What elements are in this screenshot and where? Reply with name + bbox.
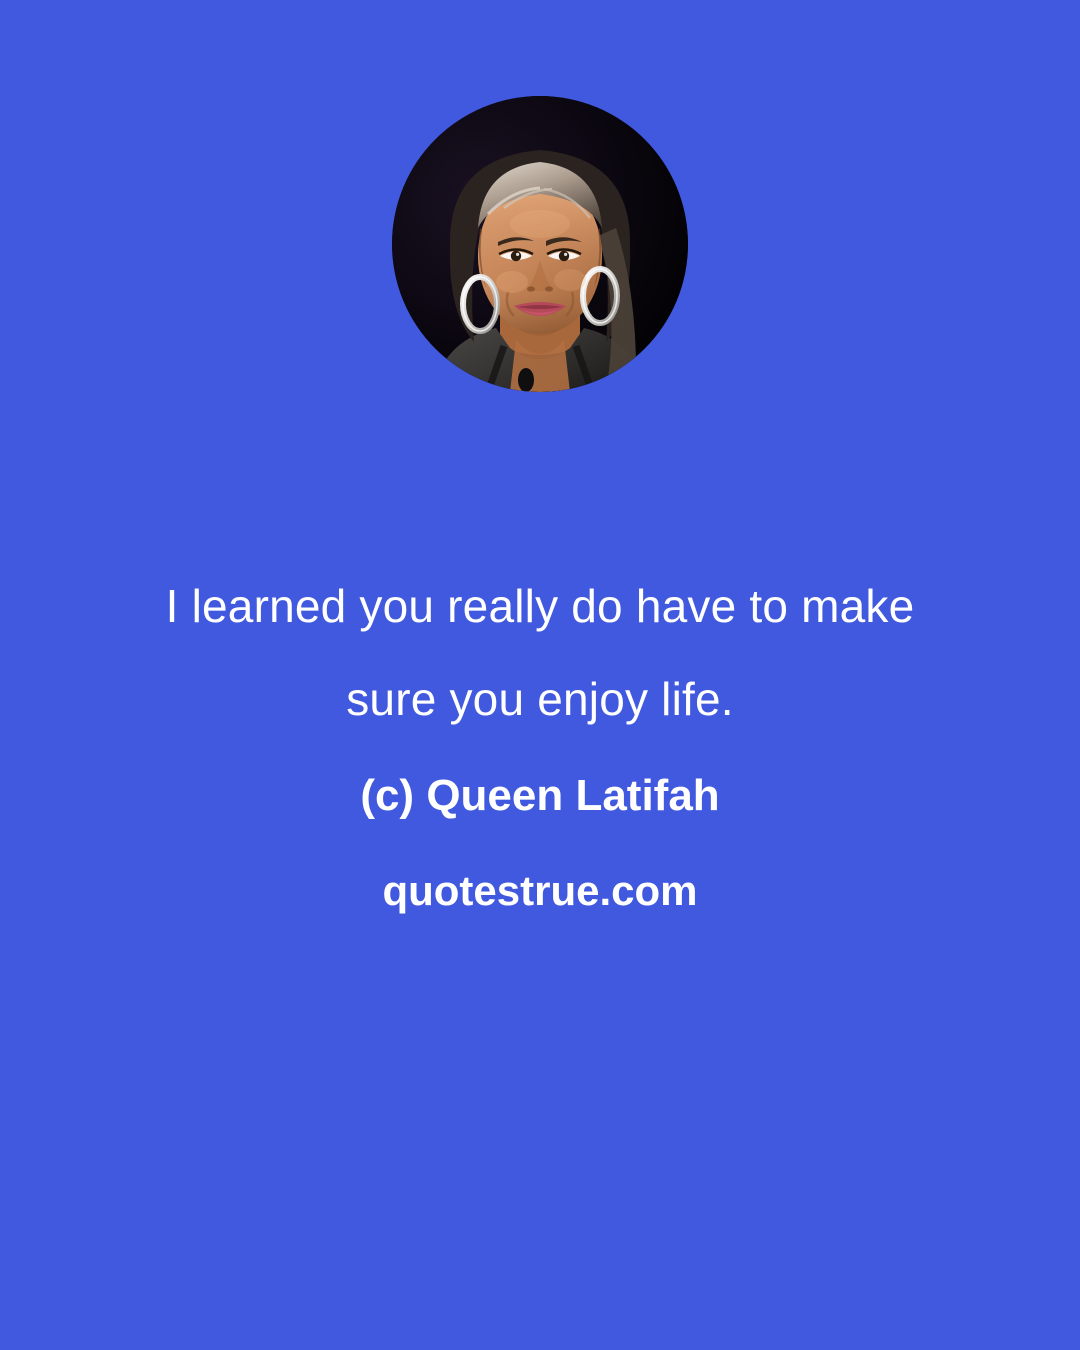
author-portrait-avatar: [392, 96, 688, 392]
quote-card: I learned you really do have to make sur…: [0, 0, 1080, 1350]
queen-latifah-portrait-icon: [392, 96, 688, 392]
quote-line-2: sure you enjoy life.: [0, 653, 1080, 746]
quote-text-block: I learned you really do have to make sur…: [0, 560, 1080, 938]
quote-line-1: I learned you really do have to make: [0, 560, 1080, 653]
source-website[interactable]: quotestrue.com: [0, 843, 1080, 938]
quote-attribution: (c) Queen Latifah: [0, 748, 1080, 843]
